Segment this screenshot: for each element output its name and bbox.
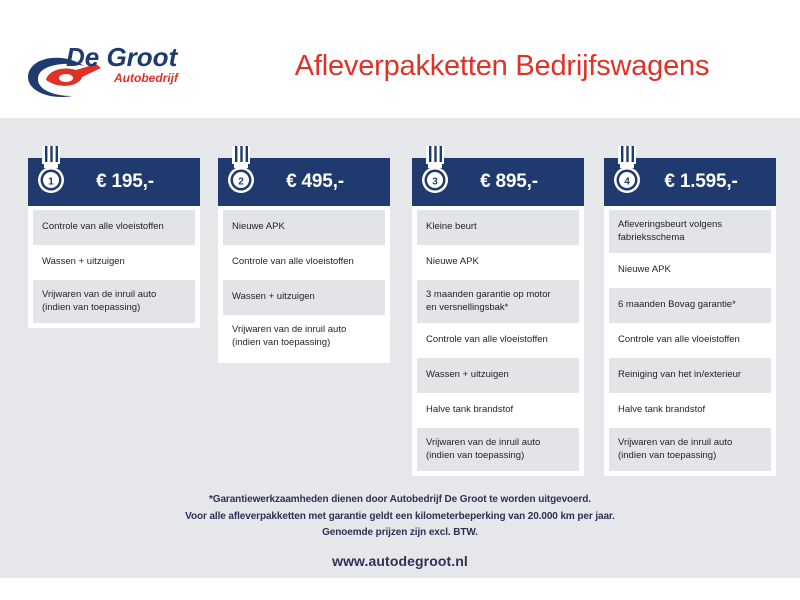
package-item-label: Halve tank brandstof [426,404,513,417]
medal-number-4: 4 [624,177,630,188]
package-items-1: Controle van alle vloeistoffenWassen + u… [28,206,200,328]
medal-number-3: 3 [432,177,438,188]
package-items-4: Afleveringsbeurt volgensfabrieksschemaNi… [604,206,776,476]
package-price-4: € 1.595,- [664,171,737,193]
package-item: Controle van alle vloeistoffen [223,245,385,280]
package-item: Vrijwaren van de inruil auto(indien van … [609,428,771,471]
package-item-label: Wassen + uitzuigen [426,369,509,382]
package-columns: 1 € 195,- Controle van alle vloeistoffen… [0,118,800,478]
package-item: Kleine beurt [417,210,579,245]
package-item-label: Controle van alle vloeistoffen [426,334,548,347]
package-item: Wassen + uitzuigen [33,245,195,280]
package-item: Halve tank brandstof [609,393,771,428]
package-item-label: Wassen + uitzuigen [232,291,315,304]
package-item-label: Vrijwaren van de inruil auto(indien van … [618,437,732,462]
package-item: Controle van alle vloeistoffen [609,323,771,358]
medal-icon-3: 3 [418,146,452,198]
package-item: Vrijwaren van de inruil auto(indien van … [223,315,385,358]
package-card-2[interactable]: 2 € 495,- Nieuwe APKControle van alle vl… [218,158,390,363]
package-item: Controle van alle vloeistoffen [417,323,579,358]
package-item: Reiniging van het in/exterieur [609,358,771,393]
package-item: 3 maanden garantie op motoren versnellin… [417,280,579,323]
package-item: Halve tank brandstof [417,393,579,428]
package-header-2: 2 € 495,- [218,158,390,206]
package-header-3: 3 € 895,- [412,158,584,206]
package-item-label: Controle van alle vloeistoffen [618,334,740,347]
package-items-2: Nieuwe APKControle van alle vloeistoffen… [218,206,390,363]
package-item-label: Nieuwe APK [232,221,285,234]
page-header: De Groot Autobedrijf Afleverpakketten Be… [0,0,800,118]
package-item-label: Controle van alle vloeistoffen [42,221,164,234]
package-item-label: Nieuwe APK [618,264,671,277]
package-item: Wassen + uitzuigen [223,280,385,315]
package-item-label: Wassen + uitzuigen [42,256,125,269]
package-item: Nieuwe APK [417,245,579,280]
package-items-3: Kleine beurtNieuwe APK3 maanden garantie… [412,206,584,476]
medal-number-1: 1 [48,177,54,188]
package-header-1: 1 € 195,- [28,158,200,206]
package-item: Nieuwe APK [609,253,771,288]
package-item-label: Reiniging van het in/exterieur [618,369,741,382]
package-item: Nieuwe APK [223,210,385,245]
logo-subtitle: Autobedrijf [113,71,179,85]
package-price-1: € 195,- [96,171,154,193]
package-item-label: Controle van alle vloeistoffen [232,256,354,269]
package-price-2: € 495,- [286,171,344,193]
footer-line: *Garantiewerkzaamheden dienen door Autob… [0,492,800,509]
package-card-4[interactable]: 4 € 1.595,- Afleveringsbeurt volgensfabr… [604,158,776,476]
medal-icon-1: 1 [34,146,68,198]
package-card-3[interactable]: 3 € 895,- Kleine beurtNieuwe APK3 maande… [412,158,584,476]
package-item: 6 maanden Bovag garantie* [609,288,771,323]
page-title: Afleverpakketten Bedrijfswagens [228,50,776,83]
website-link[interactable]: www.autodegroot.nl [0,553,800,569]
company-logo: De Groot Autobedrijf [22,36,212,102]
medal-number-2: 2 [238,177,244,188]
medal-icon-4: 4 [610,146,644,198]
package-card-1[interactable]: 1 € 195,- Controle van alle vloeistoffen… [28,158,200,328]
package-header-4: 4 € 1.595,- [604,158,776,206]
package-item: Vrijwaren van de inruil auto(indien van … [33,280,195,323]
footer-line: Genoemde prijzen zijn excl. BTW. [0,525,800,542]
package-item: Controle van alle vloeistoffen [33,210,195,245]
package-item-label: Kleine beurt [426,221,477,234]
package-item-label: Halve tank brandstof [618,404,705,417]
package-item-label: Vrijwaren van de inruil auto(indien van … [42,289,156,314]
package-item: Afleveringsbeurt volgensfabrieksschema [609,210,771,253]
package-item: Vrijwaren van de inruil auto(indien van … [417,428,579,471]
package-item-label: Vrijwaren van de inruil auto(indien van … [426,437,540,462]
package-item-label: 3 maanden garantie op motoren versnellin… [426,289,551,314]
medal-icon-2: 2 [224,146,258,198]
package-item-label: Afleveringsbeurt volgensfabrieksschema [618,219,722,244]
package-price-3: € 895,- [480,171,538,193]
poster-page: De Groot Autobedrijf Afleverpakketten Be… [0,0,800,600]
footer-disclaimer: *Garantiewerkzaamheden dienen door Autob… [0,492,800,542]
package-item: Wassen + uitzuigen [417,358,579,393]
logo-wordmark: De Groot [66,42,179,72]
package-item-label: 6 maanden Bovag garantie* [618,299,736,312]
package-item-label: Nieuwe APK [426,256,479,269]
package-item-label: Vrijwaren van de inruil auto(indien van … [232,324,346,349]
footer-line: Voor alle afleverpakketten met garantie … [0,509,800,526]
